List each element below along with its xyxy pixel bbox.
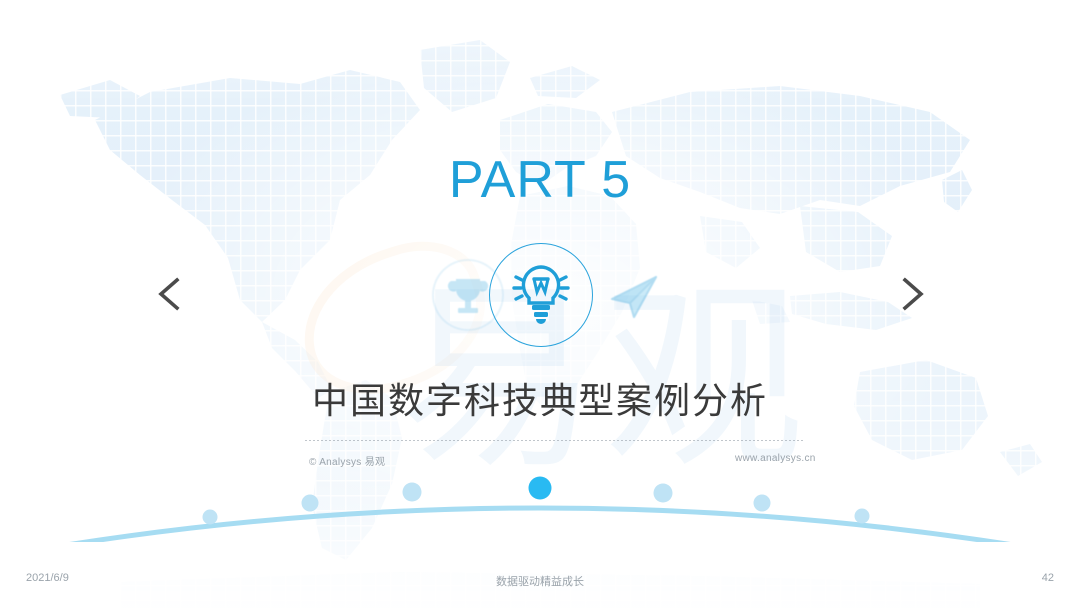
paper-plane-glyph: [598, 259, 670, 331]
progress-dot[interactable]: [403, 483, 422, 502]
paper-plane-icon[interactable]: [598, 259, 670, 331]
prev-slide-arrow[interactable]: [148, 271, 194, 317]
slide-footer: 2021/6/9 数据驱动精益成长 42: [0, 560, 1080, 608]
lightbulb-glyph: [511, 263, 571, 327]
dotted-divider: [305, 440, 803, 441]
lightbulb-icon[interactable]: [489, 243, 593, 347]
progress-dot[interactable]: [654, 484, 673, 503]
progress-dot[interactable]: [203, 510, 218, 525]
progress-arc: [0, 462, 1080, 542]
progress-arc-svg: [0, 462, 1080, 542]
progress-dot[interactable]: [302, 495, 319, 512]
progress-dot-active[interactable]: [529, 477, 552, 500]
progress-dot[interactable]: [754, 495, 771, 512]
footer-page-number: 42: [1042, 572, 1054, 584]
next-slide-arrow[interactable]: [888, 271, 934, 317]
chevron-left-icon: [148, 271, 194, 317]
part-label: PART 5: [0, 150, 1080, 210]
chevron-right-icon: [888, 271, 934, 317]
page-title: 中国数字科技典型案例分析: [0, 372, 1080, 424]
footer-center-text: 数据驱动精益成长: [0, 573, 1080, 589]
progress-dot[interactable]: [855, 509, 870, 524]
slide-root: 易观 PART 5: [0, 0, 1080, 608]
